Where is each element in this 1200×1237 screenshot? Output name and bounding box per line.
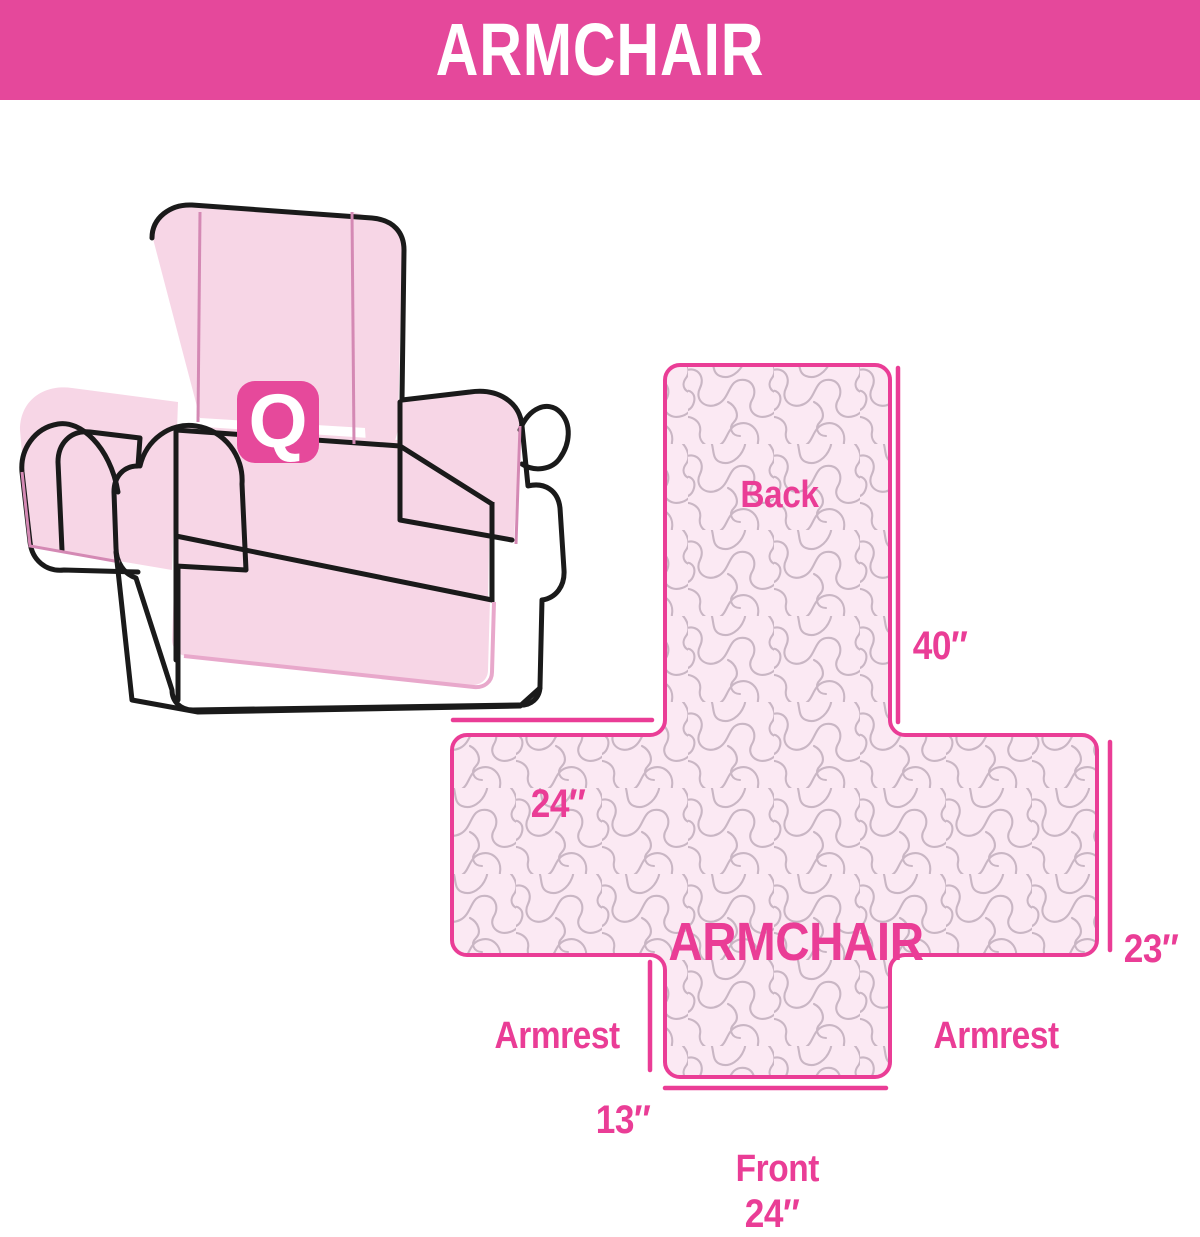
panel-label-armrest-left: Armrest [495,1015,620,1058]
panel-label-back: Back [740,474,818,517]
dimension-label-seat-depth: 23″ [1124,927,1179,972]
header-banner: ARMCHAIR [0,0,1200,100]
dimension-label-back-height: 40″ [913,624,968,669]
dimension-label-front-width: 24″ [745,1192,800,1237]
panel-label-front: Front [736,1148,819,1191]
panel-label-armrest-right: Armrest [934,1015,1059,1058]
page-title: ARMCHAIR [120,0,1080,100]
panel-label-center: ARMCHAIR [668,911,923,973]
dimension-label-front-height: 13″ [596,1098,651,1143]
dimension-label-armrest-width: 24″ [531,782,586,827]
diagram-stage: Q [0,100,1200,1200]
